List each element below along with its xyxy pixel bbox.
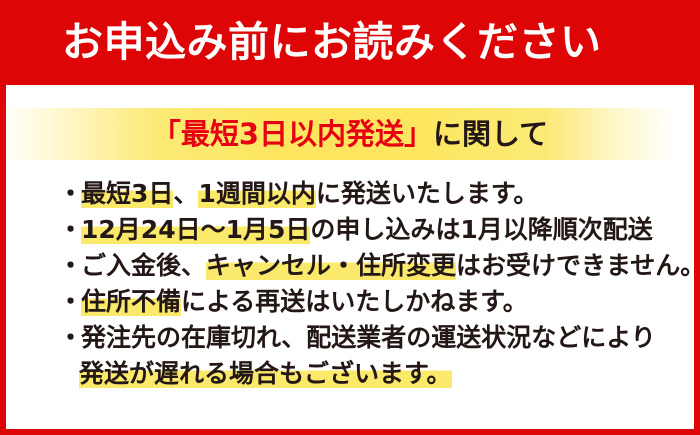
notice-text: の申し込みは1月以降順次配送 <box>310 215 652 244</box>
notice-item-line: ・最短3日、1週間以内に発送いたします。 <box>58 176 678 212</box>
notice-list: ・最短3日、1週間以内に発送いたします。・12月24日〜1月5日の申し込みは1月… <box>58 176 678 392</box>
page-title: お申込み前にお読みください <box>62 22 602 63</box>
notice-item-line: ・発注先の在庫切れ、配送業者の運送状況などにより <box>58 320 678 356</box>
bullet-icon: ・ <box>58 179 81 208</box>
highlighted-text: 住所不備 <box>81 287 181 316</box>
bullet-icon: ・ <box>58 251 81 280</box>
notice-text: ご入金後、 <box>81 251 206 280</box>
subtitle-suffix-text: に関して <box>433 117 548 151</box>
notice-item-line: ・12月24日〜1月5日の申し込みは1月以降順次配送 <box>58 212 678 248</box>
notice-item-line: ・ご入金後、キャンセル・住所変更はお受けできません。 <box>58 248 678 284</box>
highlighted-text: 発送が遅れる場合もございます。 <box>79 359 452 388</box>
notice-item: ・ご入金後、キャンセル・住所変更はお受けできません。 <box>58 248 678 284</box>
notice-item: ・住所不備による再送はいたしかねます。 <box>58 284 678 320</box>
notice-text: 発注先の在庫切れ、配送業者の運送状況などにより <box>81 323 656 352</box>
notice-item-line: ・住所不備による再送はいたしかねます。 <box>58 284 678 320</box>
notice-item-continuation-line: 発送が遅れる場合もございます。 <box>58 356 678 392</box>
highlighted-text: キャンセル・住所変更 <box>206 251 456 280</box>
notice-text: はお受けできません。 <box>456 251 700 280</box>
notice-item: ・12月24日〜1月5日の申し込みは1月以降順次配送 <box>58 212 678 248</box>
bullet-icon: ・ <box>58 323 81 352</box>
highlighted-text: 12月24日〜1月5日 <box>81 215 310 244</box>
subtitle-accent-text: 「最短3日以内発送」 <box>152 117 433 151</box>
subtitle: 「最短3日以内発送」に関して <box>152 120 548 149</box>
highlighted-text: 最短3日 <box>81 179 173 208</box>
subtitle-section: 「最短3日以内発送」に関して <box>0 108 700 160</box>
bullet-icon: ・ <box>58 287 81 316</box>
highlighted-text: 1週間以内 <box>198 179 315 208</box>
bullet-icon: ・ <box>58 215 81 244</box>
notice-text: 、 <box>173 179 198 208</box>
notice-item: ・最短3日、1週間以内に発送いたします。 <box>58 176 678 212</box>
notice-text: に発送いたします。 <box>316 179 539 208</box>
notice-text: による再送はいたしかねます。 <box>181 287 528 316</box>
notice-item: ・発注先の在庫切れ、配送業者の運送状況などにより発送が遅れる場合もございます。 <box>58 320 678 392</box>
header-banner: お申込み前にお読みください <box>0 0 700 85</box>
notice-card: お申込み前にお読みください 「最短3日以内発送」に関して ・最短3日、1週間以内… <box>0 0 700 435</box>
